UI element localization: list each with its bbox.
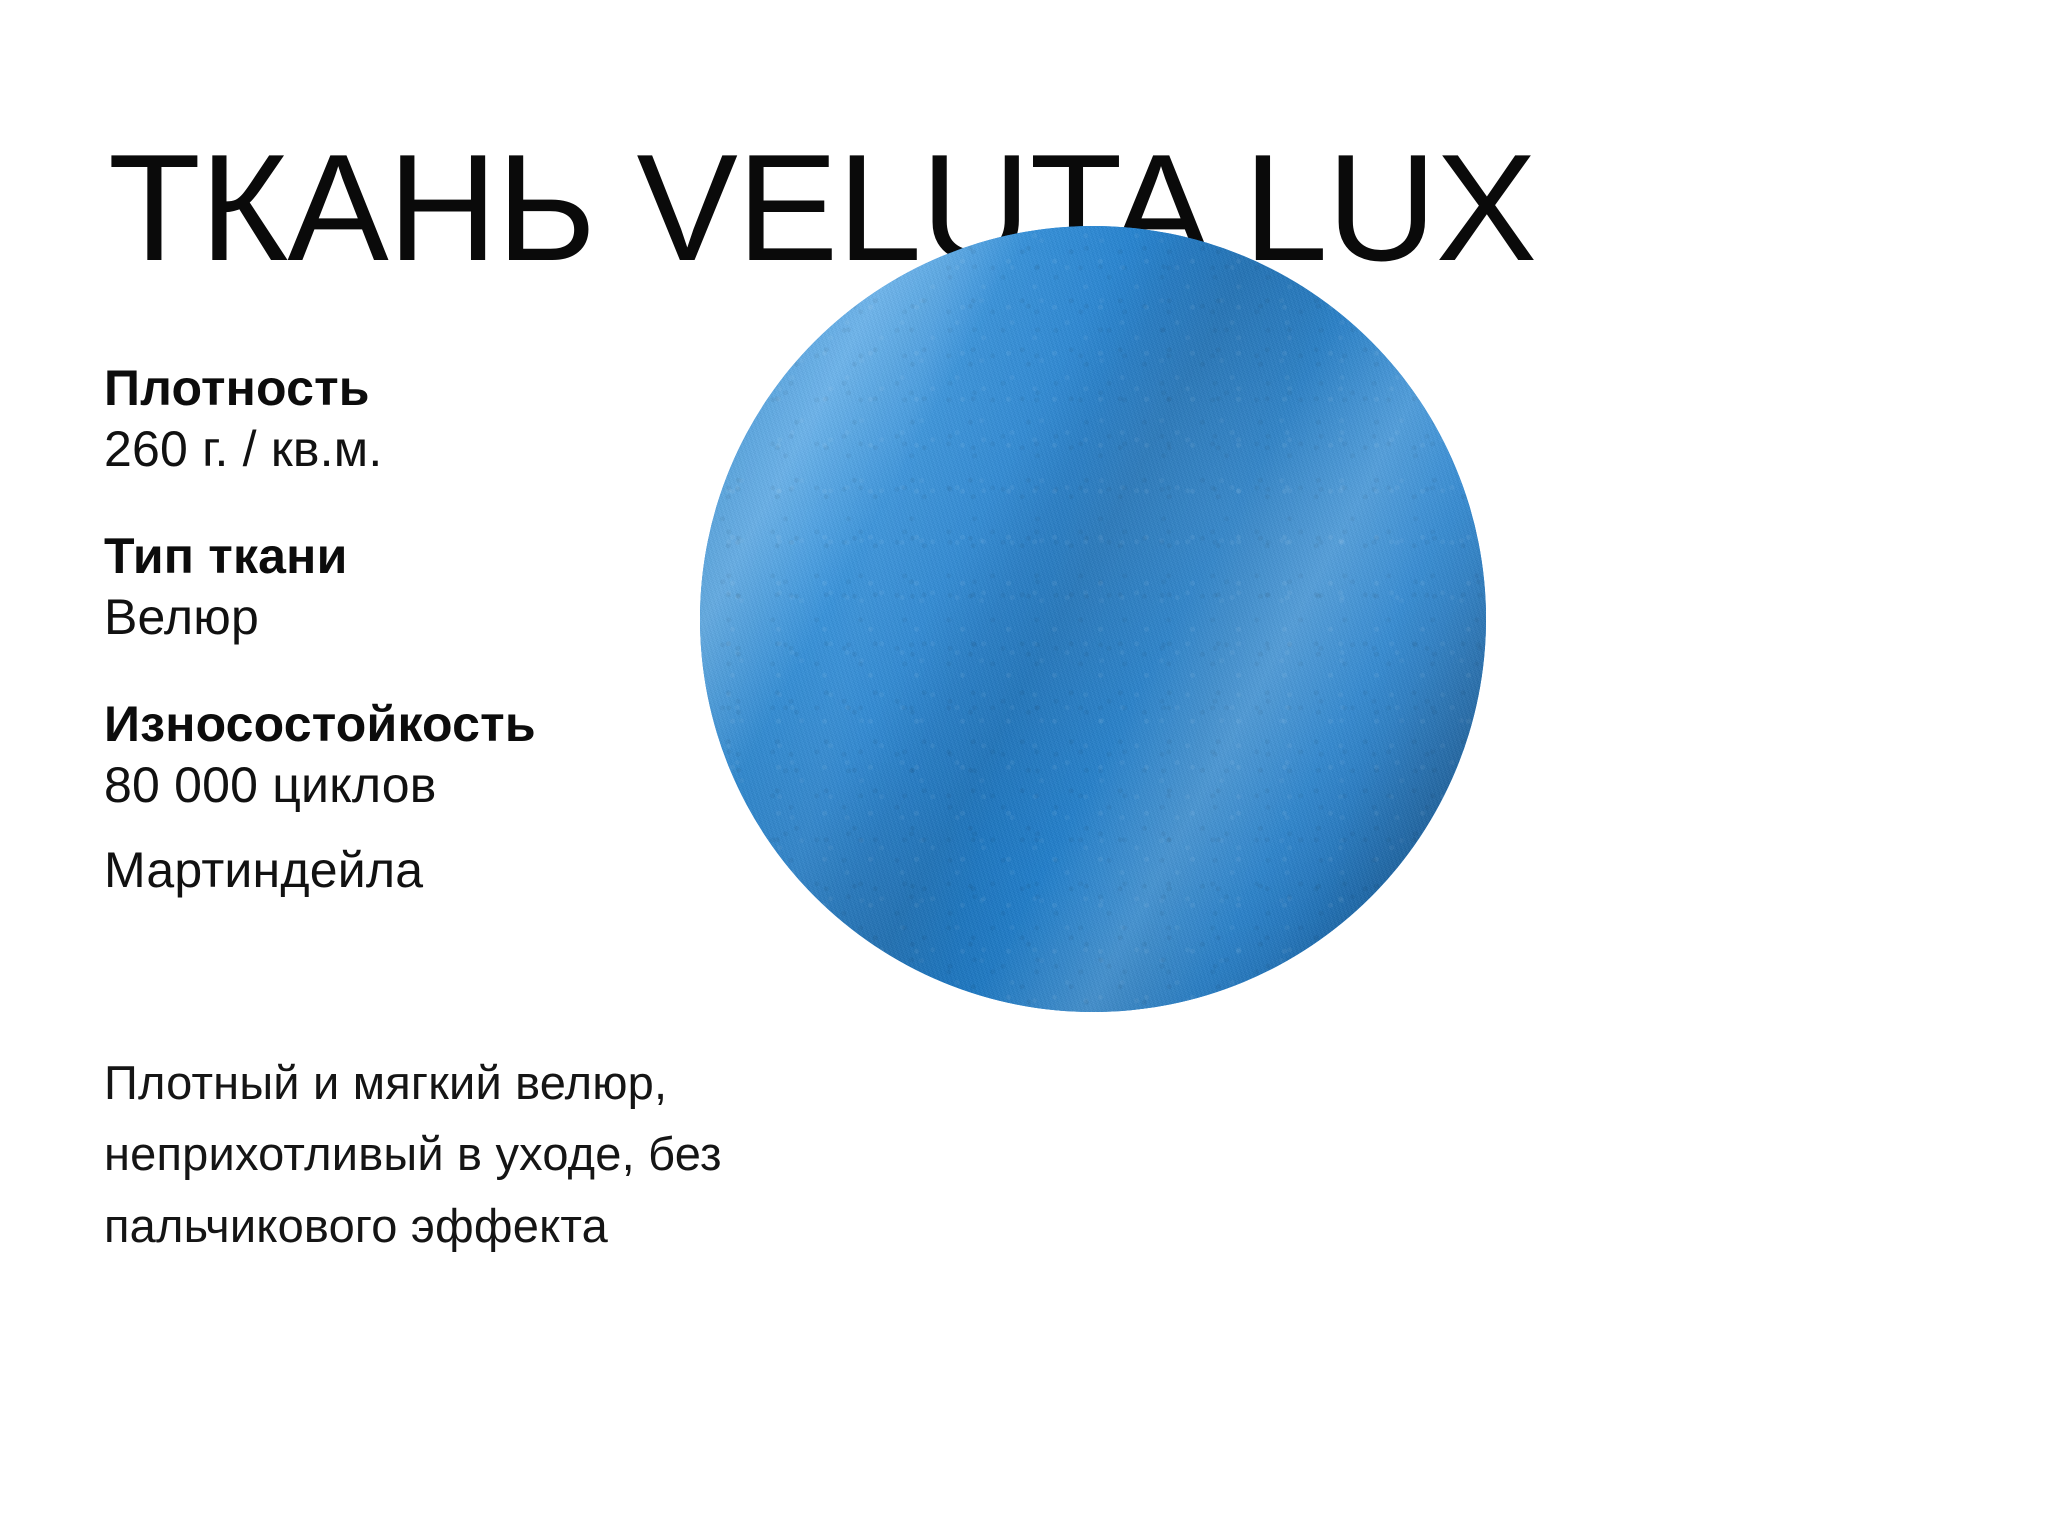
fabric-description: Плотный и мягкий велюр, неприхотливый в … — [104, 1047, 934, 1261]
fabric-swatch-image — [700, 226, 1486, 1012]
fabric-vignette — [700, 226, 1486, 1012]
fabric-info-card: ТКАНЬ VELUTA LUX Плотность 260 г. / кв.м… — [0, 0, 2048, 1536]
